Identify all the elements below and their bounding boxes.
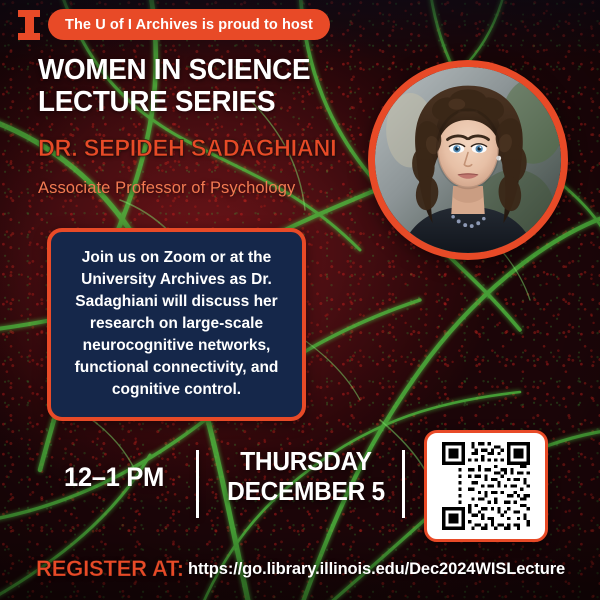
event-date-value: DECEMBER 5 [225, 478, 386, 508]
poster-canvas: The U of I Archives is proud to host WOM… [0, 0, 600, 600]
event-day: THURSDAY [225, 448, 386, 478]
qr-code-card[interactable] [424, 430, 548, 542]
speaker-name: DR. SEPIDEH SADAGHIANI [38, 135, 348, 163]
event-date: THURSDAY DECEMBER 5 [225, 448, 386, 507]
register-url[interactable]: https://go.library.illinois.edu/Dec2024W… [188, 560, 565, 579]
event-time: 12–1 PM [64, 462, 164, 493]
illinois-block-i-icon [18, 10, 40, 40]
description-card: Join us on Zoom or at the University Arc… [47, 228, 306, 421]
speaker-role: Associate Professor of Psychology [38, 179, 358, 198]
host-banner: The U of I Archives is proud to host [18, 9, 330, 40]
qr-code-icon [433, 439, 539, 533]
host-banner-label: The U of I Archives is proud to host [48, 9, 330, 40]
title-block: WOMEN IN SCIENCE LECTURE SERIES DR. SEPI… [38, 55, 358, 198]
series-title: WOMEN IN SCIENCE LECTURE SERIES [38, 55, 345, 119]
series-title-line-2: LECTURE SERIES [38, 87, 345, 119]
divider-right [402, 450, 405, 518]
register-label: REGISTER AT: [36, 556, 184, 582]
divider-left [196, 450, 199, 518]
speaker-portrait-image [375, 67, 561, 253]
speaker-portrait [368, 60, 568, 260]
series-title-line-1: WOMEN IN SCIENCE [38, 55, 345, 87]
